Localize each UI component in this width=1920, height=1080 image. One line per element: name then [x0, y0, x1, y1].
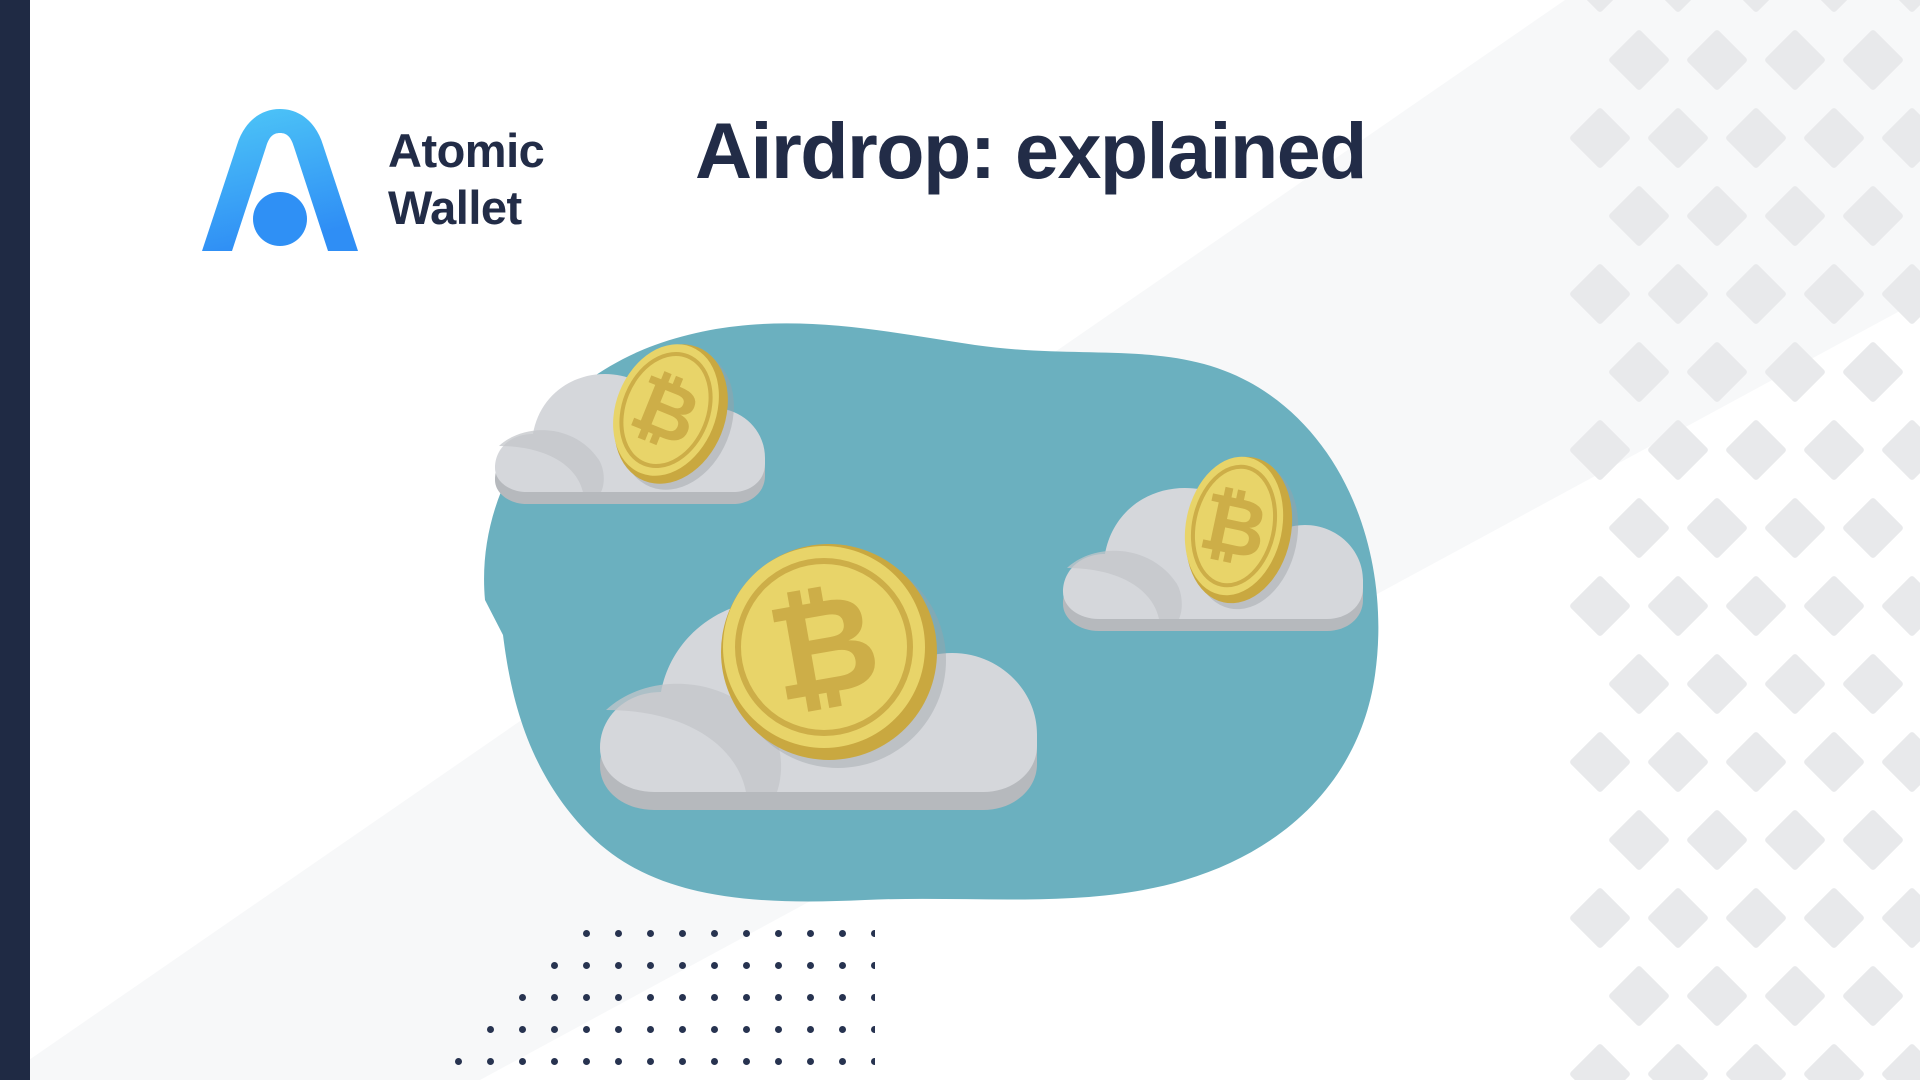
dot-shape	[871, 1058, 875, 1065]
diamond-shape	[1881, 263, 1920, 325]
diamond-shape	[1803, 887, 1865, 949]
diamond-shape	[1881, 887, 1920, 949]
dot-shape	[487, 1058, 494, 1065]
diamond-shape	[1569, 0, 1631, 13]
diamond-shape	[1608, 29, 1670, 91]
diamond-shape	[1842, 29, 1904, 91]
diamond-shape	[1803, 1043, 1865, 1080]
diamond-shape	[1686, 341, 1748, 403]
diamond-shape	[1686, 965, 1748, 1027]
diamond-shape	[1764, 341, 1826, 403]
dot-shape	[679, 1058, 686, 1065]
dot-shape	[839, 1058, 846, 1065]
dot-shape	[519, 1026, 526, 1033]
diamond-shape	[1803, 575, 1865, 637]
atomic-wallet-a-logo-icon	[196, 95, 364, 263]
diamond-shape	[1842, 497, 1904, 559]
diamond-shape	[1842, 341, 1904, 403]
diamond-shape	[1725, 263, 1787, 325]
brand-logo[interactable]: Atomic Wallet	[196, 95, 544, 263]
diamond-shape	[1764, 29, 1826, 91]
dot-shape	[615, 1026, 622, 1033]
diamond-shape	[1647, 887, 1709, 949]
dot-shape	[871, 1026, 875, 1033]
diamond-shape	[1569, 1043, 1631, 1080]
brand-name-line2: Wallet	[388, 179, 544, 236]
airdrop-illustration-svg: ₿ ₿	[455, 290, 1465, 1000]
diamond-shape	[1647, 419, 1709, 481]
brand-name-line1: Atomic	[388, 122, 544, 179]
dot-shape	[711, 1058, 718, 1065]
dot-shape	[647, 1026, 654, 1033]
diamond-shape	[1686, 809, 1748, 871]
diamond-shape	[1608, 809, 1670, 871]
diamond-shape	[1608, 185, 1670, 247]
diamond-shape	[1569, 731, 1631, 793]
diamond-shape	[1881, 107, 1920, 169]
diamond-shape	[1842, 653, 1904, 715]
diamond-shape	[1803, 419, 1865, 481]
diamond-shape	[1725, 575, 1787, 637]
diamond-shape	[1881, 419, 1920, 481]
slide-canvas: Atomic Wallet Airdrop: explained	[0, 0, 1920, 1080]
diamond-shape	[1725, 107, 1787, 169]
diamond-shape	[1803, 263, 1865, 325]
diamond-shape	[1764, 497, 1826, 559]
diamond-shape	[1647, 575, 1709, 637]
diamond-shape	[1647, 263, 1709, 325]
dot-shape	[551, 1058, 558, 1065]
diamond-shape	[1881, 0, 1920, 13]
diamond-shape	[1803, 107, 1865, 169]
diamond-shape	[1686, 497, 1748, 559]
diamond-shape	[1647, 0, 1709, 13]
dot-shape	[455, 1058, 462, 1065]
diamond-shape	[1881, 731, 1920, 793]
dot-shape	[807, 1058, 814, 1065]
dot-shape	[679, 1026, 686, 1033]
dot-shape	[743, 1026, 750, 1033]
diamond-shape	[1725, 0, 1787, 13]
dot-shape	[775, 1026, 782, 1033]
diamond-shape	[1842, 965, 1904, 1027]
diamond-shape	[1725, 731, 1787, 793]
diamond-shape	[1803, 0, 1865, 13]
diamond-shape	[1569, 419, 1631, 481]
diamond-shape	[1647, 107, 1709, 169]
diamond-shape	[1764, 965, 1826, 1027]
diamond-shape	[1608, 341, 1670, 403]
diamond-shape	[1803, 731, 1865, 793]
dot-shape	[615, 1058, 622, 1065]
diamond-shape	[1608, 965, 1670, 1027]
diamond-shape	[1725, 887, 1787, 949]
diamond-shape	[1764, 809, 1826, 871]
diamond-shape	[1881, 1043, 1920, 1080]
diamond-shape	[1725, 419, 1787, 481]
diamond-shape	[1842, 185, 1904, 247]
diamond-shape	[1686, 653, 1748, 715]
diamond-shape	[1725, 1043, 1787, 1080]
airdrop-illustration: ₿ ₿	[455, 290, 1465, 1000]
diamond-shape	[1569, 107, 1631, 169]
left-navy-rail	[0, 0, 30, 1080]
dot-shape	[551, 1026, 558, 1033]
diamond-shape	[1569, 887, 1631, 949]
diamond-shape	[1764, 653, 1826, 715]
dot-shape	[711, 1026, 718, 1033]
dot-shape	[519, 1058, 526, 1065]
diamond-shape	[1842, 809, 1904, 871]
diamond-shape	[1686, 29, 1748, 91]
dot-shape	[807, 1026, 814, 1033]
diamond-shape	[1764, 185, 1826, 247]
page-title: Airdrop: explained	[695, 105, 1366, 197]
diamond-shape	[1608, 497, 1670, 559]
dot-shape	[775, 1058, 782, 1065]
diamond-shape	[1569, 575, 1631, 637]
dot-shape	[487, 1026, 494, 1033]
dot-shape	[743, 1058, 750, 1065]
diamond-shape	[1881, 575, 1920, 637]
dot-shape	[583, 1058, 590, 1065]
diamond-pattern-decoration	[1500, 0, 1920, 1080]
diamond-shape	[1608, 653, 1670, 715]
dot-shape	[647, 1058, 654, 1065]
diamond-shape	[1569, 263, 1631, 325]
diamond-shape	[1647, 1043, 1709, 1080]
diamond-shape	[1647, 731, 1709, 793]
dot-shape	[583, 1026, 590, 1033]
brand-name: Atomic Wallet	[388, 122, 544, 237]
dot-shape	[839, 1026, 846, 1033]
diamond-shape	[1686, 185, 1748, 247]
